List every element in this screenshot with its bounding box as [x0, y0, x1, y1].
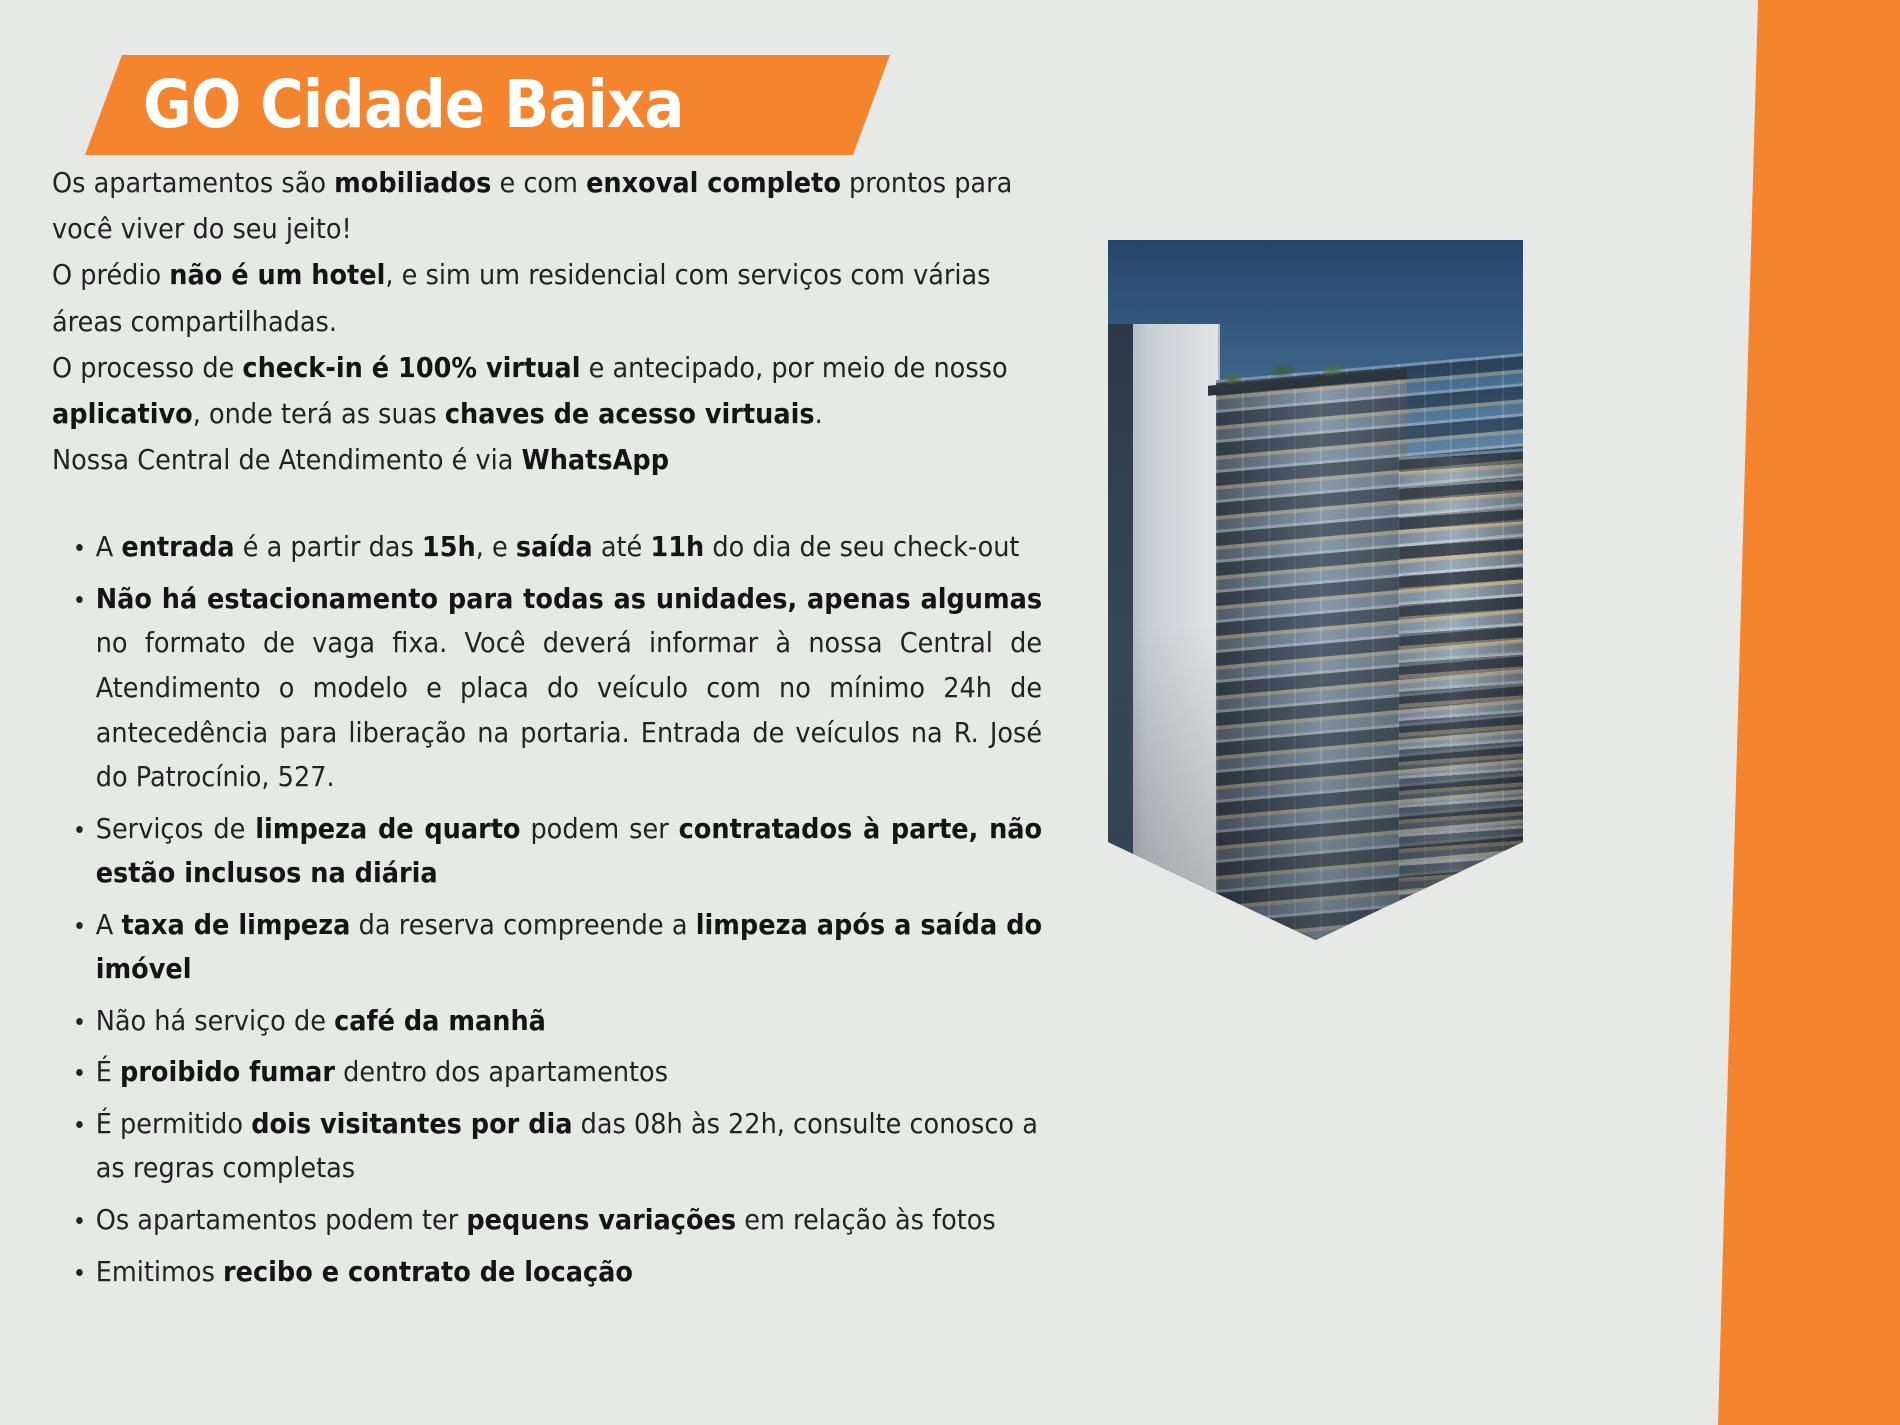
list-item-text: Os apartamentos podem ter pequens variaç…: [96, 1198, 1042, 1243]
list-item: A taxa de limpeza da reserva compreende …: [52, 903, 1042, 992]
emphasis-text: café da manhã: [334, 1005, 546, 1037]
body-text: do dia de seu check-out: [704, 531, 1019, 563]
emphasis-text: mobiliados: [334, 167, 491, 199]
list-item-text: Emitimos recibo e contrato de locação: [96, 1250, 1042, 1295]
body-text: É permitido: [96, 1108, 251, 1140]
emphasis-text: aplicativo: [52, 398, 193, 430]
body-text: dentro dos apartamentos: [335, 1056, 668, 1088]
intro-paragraphs: Os apartamentos são mobiliados e com enx…: [52, 160, 1042, 483]
body-text: Emitimos: [96, 1256, 223, 1288]
body-text: e antecipado, por meio de nosso: [580, 352, 1007, 384]
body-text: é a partir das: [235, 531, 422, 563]
emphasis-text: 11h: [650, 531, 704, 563]
list-item: Não há serviço de café da manhã: [52, 999, 1042, 1044]
intro-paragraph: Os apartamentos são mobiliados e com enx…: [52, 160, 1042, 252]
emphasis-text: WhatsApp: [522, 444, 670, 476]
bullet-dot-icon: [76, 544, 83, 551]
intro-paragraph: O prédio não é um hotel, e sim um reside…: [52, 252, 1042, 344]
list-item-text: Serviços de limpeza de quarto podem ser …: [96, 807, 1042, 896]
emphasis-text: saída: [516, 531, 593, 563]
bullet-dot-icon: [76, 1018, 83, 1025]
emphasis-text: taxa de limpeza: [121, 909, 350, 941]
body-text: até: [593, 531, 651, 563]
emphasis-text: recibo e contrato de locação: [223, 1256, 633, 1288]
body-text: Os apartamentos podem ter: [96, 1204, 467, 1236]
list-item: Emitimos recibo e contrato de locação: [52, 1250, 1042, 1295]
building-photo: [1108, 240, 1523, 940]
list-item-text: É permitido dois visitantes por dia das …: [96, 1102, 1042, 1191]
rules-bullet-list: A entrada é a partir das 15h, e saída at…: [52, 525, 1042, 1294]
list-item: Não há estacionamento para todas as unid…: [52, 577, 1042, 800]
list-item-text: A entrada é a partir das 15h, e saída at…: [96, 525, 1042, 570]
body-text: , onde terá as suas: [193, 398, 445, 430]
emphasis-text: 15h: [422, 531, 476, 563]
emphasis-text: pequens variações: [466, 1204, 736, 1236]
bullet-dot-icon: [76, 922, 83, 929]
body-text: podem ser: [521, 813, 679, 845]
emphasis-text: Não há estacionamento para todas as unid…: [96, 583, 1042, 615]
list-item: É permitido dois visitantes por dia das …: [52, 1102, 1042, 1191]
building-photo-image: [1108, 240, 1523, 940]
emphasis-text: proibido fumar: [120, 1056, 335, 1088]
list-item-text: Não há serviço de café da manhã: [96, 999, 1042, 1044]
body-text: , e: [476, 531, 516, 563]
bullet-dot-icon: [76, 1269, 83, 1276]
emphasis-text: check-in é 100% virtual: [242, 352, 580, 384]
intro-paragraph: O processo de check-in é 100% virtual e …: [52, 345, 1042, 437]
emphasis-text: limpeza de quarto: [255, 813, 520, 845]
photo-vignette: [1108, 240, 1523, 940]
body-text: Não há serviço de: [96, 1005, 334, 1037]
body-text: É: [96, 1056, 120, 1088]
emphasis-text: entrada: [121, 531, 234, 563]
emphasis-text: não é um hotel: [169, 259, 385, 291]
list-item: A entrada é a partir das 15h, e saída at…: [52, 525, 1042, 570]
list-item: Os apartamentos podem ter pequens variaç…: [52, 1198, 1042, 1243]
list-item-text: Não há estacionamento para todas as unid…: [96, 577, 1042, 800]
emphasis-text: dois visitantes por dia: [251, 1108, 572, 1140]
bullet-dot-icon: [76, 1217, 83, 1224]
body-text: O processo de: [52, 352, 242, 384]
list-item: É proibido fumar dentro dos apartamentos: [52, 1050, 1042, 1095]
body-text: .: [815, 398, 823, 430]
body-text: no formato de vaga fixa. Você deverá inf…: [96, 627, 1042, 793]
bullet-dot-icon: [76, 596, 83, 603]
bullet-dot-icon: [76, 1069, 83, 1076]
list-item-text: É proibido fumar dentro dos apartamentos: [96, 1050, 1042, 1095]
body-text: Os apartamentos são: [52, 167, 334, 199]
bullet-dot-icon: [76, 1121, 83, 1128]
body-text: Serviços de: [96, 813, 256, 845]
page-title: GO Cidade Baixa: [143, 72, 684, 138]
list-item: Serviços de limpeza de quarto podem ser …: [52, 807, 1042, 896]
body-text: e com: [491, 167, 586, 199]
intro-paragraph: Nossa Central de Atendimento é via Whats…: [52, 437, 1042, 483]
body-text: em relação às fotos: [736, 1204, 996, 1236]
emphasis-text: chaves de acesso virtuais: [445, 398, 815, 430]
header-banner: GO Cidade Baixa: [85, 55, 890, 155]
body-text: O prédio: [52, 259, 169, 291]
bullet-dot-icon: [76, 826, 83, 833]
body-text: da reserva compreende a: [350, 909, 695, 941]
body-text: A: [96, 531, 122, 563]
content-column: Os apartamentos são mobiliados e com enx…: [52, 160, 1047, 1322]
emphasis-text: enxoval completo: [586, 167, 841, 199]
body-text: A: [96, 909, 122, 941]
body-text: Nossa Central de Atendimento é via: [52, 444, 522, 476]
list-item-text: A taxa de limpeza da reserva compreende …: [96, 903, 1042, 992]
